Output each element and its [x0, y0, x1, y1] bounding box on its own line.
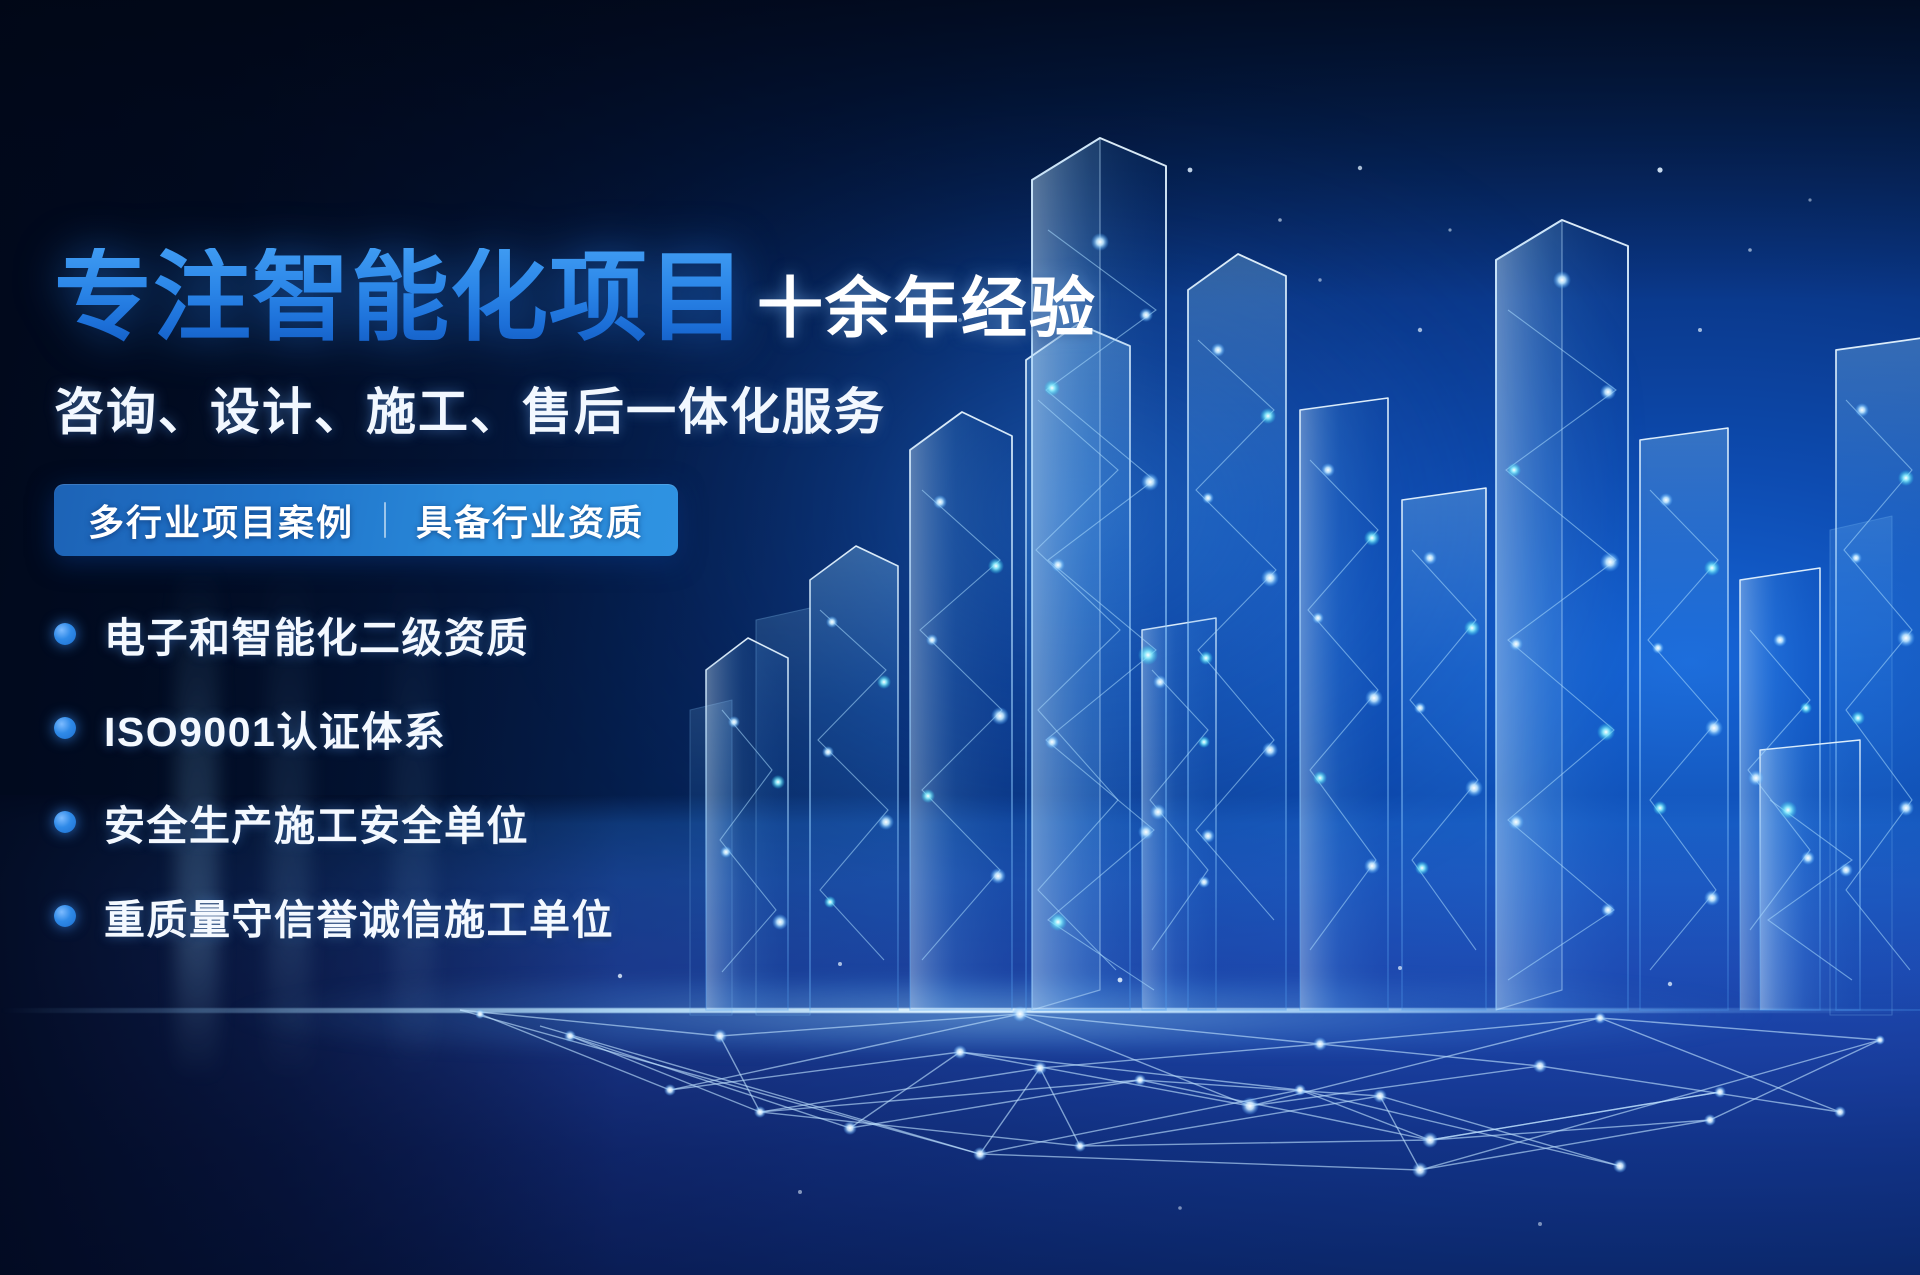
- banner-content: 专注智能化项目 十余年经验 咨询、设计、施工、售后一体化服务 多行业项目案例 具…: [54, 248, 1074, 946]
- credentials-list: 电子和智能化二级资质 ISO9001认证体系 安全生产施工安全单位 重质量守信誉…: [54, 604, 1074, 946]
- headline: 专注智能化项目 十余年经验: [54, 248, 1074, 346]
- bullet-dot-icon: [54, 623, 76, 645]
- ground-network-mesh: [420, 940, 1920, 1270]
- list-item-label: 重质量守信誉诚信施工单位: [104, 886, 614, 946]
- list-item: 安全生产施工安全单位: [54, 792, 1074, 852]
- qualification-badge[interactable]: 多行业项目案例 具备行业资质: [54, 484, 678, 556]
- list-item-label: ISO9001认证体系: [104, 698, 446, 758]
- list-item: 电子和智能化二级资质: [54, 604, 1074, 664]
- badge-left-label: 多行业项目案例: [88, 494, 354, 546]
- bullet-dot-icon: [54, 811, 76, 833]
- list-item: ISO9001认证体系: [54, 698, 1074, 758]
- headline-main-text: 专注智能化项目: [54, 248, 747, 346]
- headline-accent-text: 十余年经验: [757, 275, 1097, 346]
- bullet-dot-icon: [54, 717, 76, 739]
- list-item-label: 电子和智能化二级资质: [104, 604, 529, 664]
- badge-divider-icon: [384, 502, 386, 538]
- banner-stage: 专注智能化项目 十余年经验 咨询、设计、施工、售后一体化服务 多行业项目案例 具…: [0, 0, 1920, 1275]
- badge-right-label: 具备行业资质: [416, 494, 644, 546]
- subtitle-text: 咨询、设计、施工、售后一体化服务: [54, 384, 1074, 442]
- list-item-label: 安全生产施工安全单位: [104, 792, 529, 852]
- list-item: 重质量守信誉诚信施工单位: [54, 886, 1074, 946]
- bullet-dot-icon: [54, 905, 76, 927]
